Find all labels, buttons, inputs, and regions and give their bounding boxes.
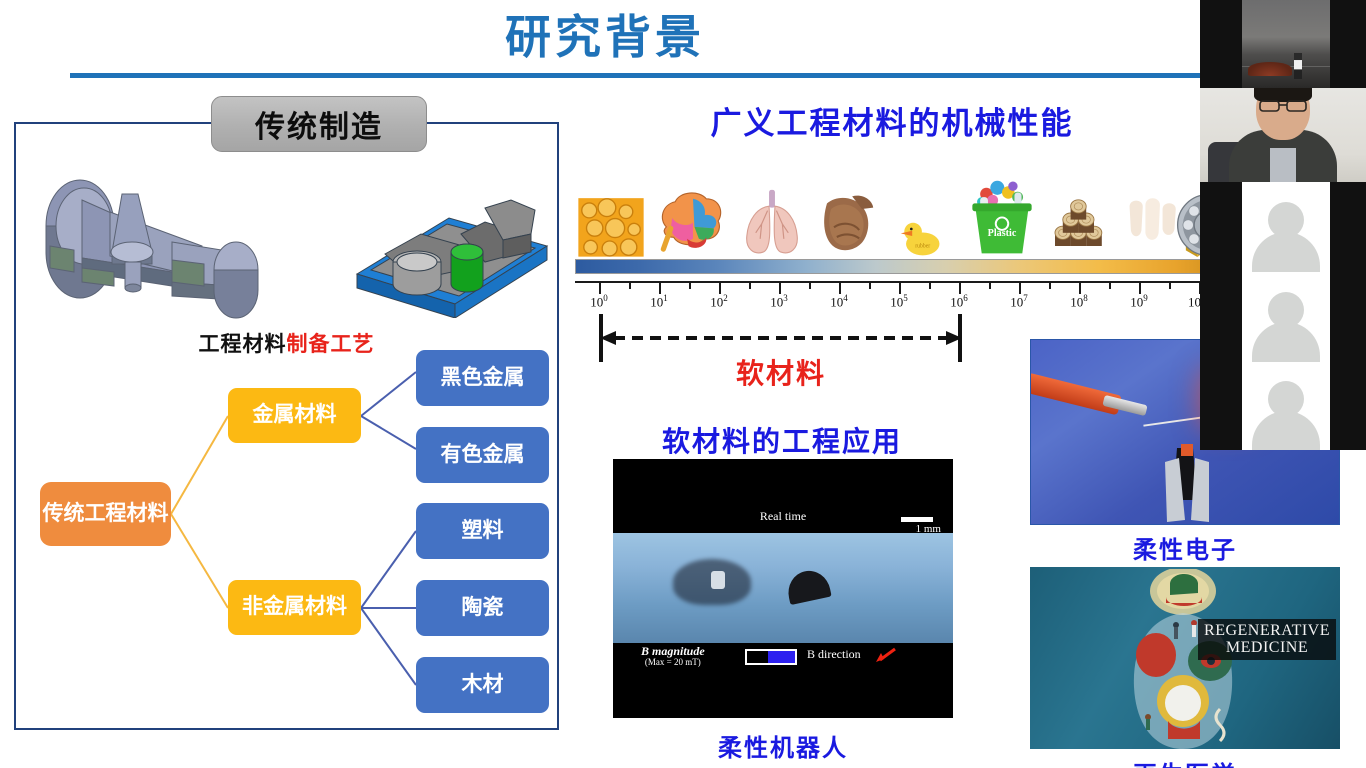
room-person xyxy=(1294,53,1302,79)
tree-node-nonmetal-materials[interactable]: 非金属材料 xyxy=(228,580,361,635)
b-magnitude-text: B magnitude xyxy=(641,644,705,658)
b-direction-arrow-icon xyxy=(875,647,897,663)
participant-tile-presenter[interactable] xyxy=(1200,88,1366,182)
traditional-manufacturing-badge: 传统制造 xyxy=(211,96,427,152)
material-icon-strip: rubberPlastic xyxy=(575,162,1215,258)
fat-tissue-icon xyxy=(577,188,645,258)
tree-leaf-wood[interactable]: 木材 xyxy=(416,657,549,713)
soft-material-application-title: 软材料的工程应用 xyxy=(572,420,992,460)
presentation-slide: 研究背景 xyxy=(0,0,1366,768)
svg-text:rubber: rubber xyxy=(915,243,930,249)
avatar-background xyxy=(1242,362,1330,450)
overlay-line-1: REGENERATIVE xyxy=(1204,622,1330,639)
avatar-body-icon xyxy=(1252,322,1320,362)
axis-tick-label: 105 xyxy=(890,293,908,310)
wood-logs-icon xyxy=(1045,198,1119,258)
participant-tile-avatar-3[interactable] xyxy=(1200,362,1366,450)
soft-robot-caption: 柔性机器人 xyxy=(613,728,953,763)
regenerative-medicine-overlay: REGENERATIVE MEDICINE xyxy=(1198,619,1336,660)
tree-leaf-ceramic[interactable]: 陶瓷 xyxy=(416,580,549,636)
lungs-icon xyxy=(735,172,809,258)
tree-leaf-plastic[interactable]: 塑料 xyxy=(416,503,549,559)
presenter-shirt xyxy=(1270,148,1296,182)
axis-tick-label: 101 xyxy=(650,293,668,310)
overlay-line-2: MEDICINE xyxy=(1204,639,1330,656)
axis-tick-minor xyxy=(929,283,931,289)
title-divider xyxy=(70,73,1208,78)
axis-tick-label: 109 xyxy=(1130,293,1148,310)
flexible-electronics-caption: 柔性电子 xyxy=(1030,530,1340,565)
video-small-object xyxy=(711,571,725,589)
muscle-arm-icon xyxy=(813,178,883,258)
b-magnitude-max: (Max = 20 mT) xyxy=(641,658,705,667)
participant-tile-gallery-room[interactable] xyxy=(1200,0,1366,88)
presenter-video xyxy=(1200,88,1366,182)
scale-bar-icon xyxy=(901,517,933,522)
gallery-room-video xyxy=(1242,0,1330,88)
axis-tick-minor xyxy=(1169,283,1171,289)
axis-tick-label: 106 xyxy=(950,293,968,310)
tweezer-gripper xyxy=(1159,444,1233,524)
participant-tile-avatar-1[interactable] xyxy=(1200,182,1366,272)
axis-tick-label: 104 xyxy=(830,293,848,310)
soft-range-arrow xyxy=(600,330,962,346)
room-artwork xyxy=(1248,62,1292,76)
soft-robot-video[interactable]: Real time 1 mm B magnitude (Max = 20 mT)… xyxy=(613,459,953,718)
gauge-empty-segment xyxy=(747,651,768,663)
page-title: 研究背景 xyxy=(0,8,1210,66)
axis-tick-minor xyxy=(1049,283,1051,289)
participant-tile-avatar-2[interactable] xyxy=(1200,272,1366,362)
regenerative-medicine-caption: 再生医学 xyxy=(1030,755,1340,768)
video-water-layer xyxy=(613,533,953,643)
gauge-filled-segment xyxy=(768,651,795,663)
axis-tick-minor xyxy=(869,283,871,289)
red-probe xyxy=(1030,373,1122,416)
brain-icon xyxy=(653,180,727,258)
video-conference-sidebar[interactable] xyxy=(1200,0,1366,450)
stiffness-gradient-bar xyxy=(575,259,1215,274)
plastic-bin-icon: Plastic xyxy=(963,162,1041,258)
axis-tick-minor xyxy=(689,283,691,289)
tree-leaf-nonferrous-metal[interactable]: 有色金属 xyxy=(416,427,549,483)
avatar-body-icon xyxy=(1252,411,1320,450)
b-magnitude-label: B magnitude (Max = 20 mT) xyxy=(641,645,705,667)
avatar-background xyxy=(1242,182,1330,272)
tree-leaf-ferrous-metal[interactable]: 黑色金属 xyxy=(416,350,549,406)
avatar-background xyxy=(1242,272,1330,362)
soft-material-range-label: 软材料 xyxy=(600,352,962,392)
avatar-body-icon xyxy=(1252,232,1320,272)
axis-tick-label: 100 xyxy=(590,293,608,310)
tree-node-metal-materials[interactable]: 金属材料 xyxy=(228,388,361,443)
tree-node-root[interactable]: 传统工程材料 xyxy=(40,482,171,546)
axis-tick-label: 108 xyxy=(1070,293,1088,310)
axis-tick-minor xyxy=(629,283,631,289)
b-magnitude-gauge xyxy=(745,649,797,665)
axis-tick-minor xyxy=(989,283,991,289)
b-direction-label: B direction xyxy=(807,647,861,662)
mechanical-properties-title: 广义工程材料的机械性能 xyxy=(572,98,1212,143)
regenerative-medicine-photo[interactable]: REGENERATIVE MEDICINE xyxy=(1030,567,1340,749)
modulus-axis-line xyxy=(575,281,1215,283)
glasses-icon xyxy=(1259,100,1307,112)
axis-tick-label: 102 xyxy=(710,293,728,310)
axis-tick-minor xyxy=(749,283,751,289)
axis-tick-label: 103 xyxy=(770,293,788,310)
axis-tick-label: 107 xyxy=(1010,293,1028,310)
axis-tick-minor xyxy=(809,283,811,289)
scale-bar-label: 1 mm xyxy=(916,523,941,535)
rubber-duck-icon: rubber xyxy=(895,214,947,258)
axis-tick-minor xyxy=(1109,283,1111,289)
